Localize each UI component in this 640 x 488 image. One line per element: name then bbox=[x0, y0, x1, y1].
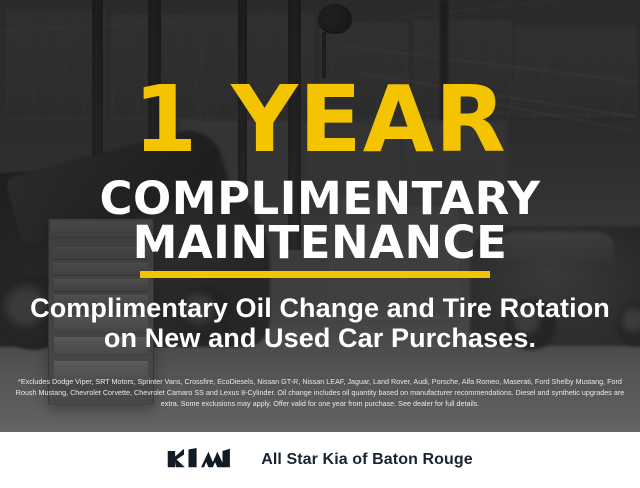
headline-year: 1 YEAR bbox=[0, 74, 640, 166]
banner-content: 1 YEAR COMPLIMENTARY MAINTENANCE Complim… bbox=[0, 0, 640, 432]
offer-line-2: on New and Used Car Purchases. bbox=[0, 322, 640, 354]
headline-complimentary: COMPLIMENTARY bbox=[0, 176, 640, 221]
disclaimer-text: *Excludes Dodge Viper, SRT Motors, Sprin… bbox=[14, 377, 626, 410]
promotional-banner: 1 YEAR COMPLIMENTARY MAINTENANCE Complim… bbox=[0, 0, 640, 488]
offer-line-1: Complimentary Oil Change and Tire Rotati… bbox=[0, 292, 640, 324]
yellow-divider-bar bbox=[140, 271, 490, 278]
dealer-name: All Star Kia of Baton Rouge bbox=[261, 451, 473, 469]
headline-maintenance: MAINTENANCE bbox=[0, 220, 640, 265]
footer-bar: All Star Kia of Baton Rouge bbox=[0, 432, 640, 488]
kia-logo-icon bbox=[167, 447, 241, 474]
